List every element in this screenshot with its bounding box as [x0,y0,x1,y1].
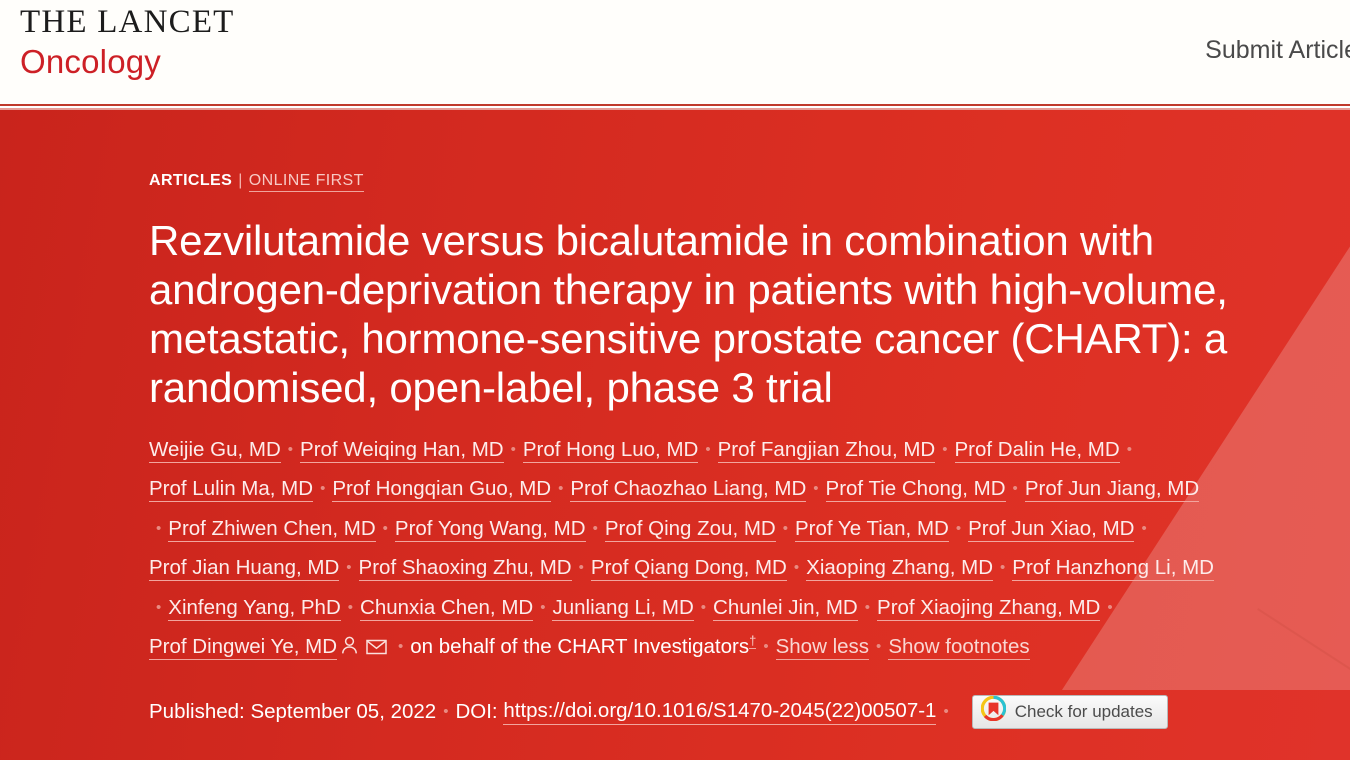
author-link[interactable]: Prof Jun Xiao, MD [968,517,1134,542]
submit-article-link[interactable]: Submit Article [1205,36,1350,65]
author-link[interactable]: Prof Zhiwen Chen, MD [168,517,375,542]
author-separator: • [346,554,351,583]
kicker-online-first-label[interactable]: ONLINE FIRST [249,172,364,192]
show-footnotes-link[interactable]: Show footnotes [888,635,1029,660]
author-separator: • [579,554,584,583]
author-link[interactable]: Prof Dalin He, MD [955,438,1120,463]
author-separator: • [1013,475,1018,504]
author-link[interactable]: Prof Shaoxing Zhu, MD [359,556,572,581]
corresponding-author-link[interactable]: Prof Dingwei Ye, MD [149,635,337,660]
footnote-marker[interactable]: † [749,633,756,649]
crossmark-label: Check for updates [1015,702,1153,722]
article-hero-banner: 218 ongoing at interim progression-free … [0,110,1350,760]
author-profile-icon[interactable] [341,629,358,669]
author-link[interactable]: Chunlei Jin, MD [713,596,858,621]
article-title: Rezvilutamide versus bicalutamide in com… [149,216,1249,413]
author-link[interactable]: Prof Fangjian Zhou, MD [718,438,936,463]
author-link[interactable]: Prof Hongqian Guo, MD [332,477,551,502]
email-author-icon[interactable] [366,629,387,669]
author-link[interactable]: Prof Jun Jiang, MD [1025,477,1199,502]
author-link[interactable]: Prof Qing Zou, MD [605,517,776,542]
author-separator: • [783,515,788,544]
author-list: Weijie Gu, MD•Prof Weiqing Han, MD•Prof … [149,430,1214,669]
group-credit-text: on behalf of the CHART Investigators [410,635,749,658]
author-separator: • [1107,594,1112,623]
author-separator: • [794,554,799,583]
logo-the-lancet: THE LANCET [20,6,235,39]
kicker-section-label[interactable]: ARTICLES [149,172,232,189]
site-masthead: THE LANCET Oncology Submit Article [0,0,1350,104]
author-separator: • [942,436,947,465]
author-separator: • [540,594,545,623]
author-separator: • [511,436,516,465]
author-link[interactable]: Prof Tie Chong, MD [826,477,1006,502]
article-kicker: ARTICLES|ONLINE FIRST [149,172,1259,190]
logo-oncology: Oncology [20,45,235,78]
author-link[interactable]: Prof Chaozhao Liang, MD [570,477,806,502]
author-separator: • [701,594,706,623]
crossmark-check-for-updates-button[interactable]: Check for updates [972,695,1168,729]
author-link[interactable]: Prof Xiaojing Zhang, MD [877,596,1100,621]
lancet-oncology-logo[interactable]: THE LANCET Oncology [20,6,235,78]
published-date: September 05, 2022 [250,700,436,724]
show-less-link[interactable]: Show less [776,635,869,660]
author-separator: • [156,515,161,544]
doi-link[interactable]: https://doi.org/10.1016/S1470-2045(22)00… [503,699,936,725]
meta-separator: • [443,703,448,720]
author-separator: • [593,515,598,544]
publication-meta-line: Published: September 05, 2022•DOI: https… [149,695,1259,729]
author-separator: • [1000,554,1005,583]
published-label: Published: [149,700,245,724]
author-separator: • [876,633,881,662]
author-link[interactable]: Xiaoping Zhang, MD [806,556,993,581]
author-separator: • [865,594,870,623]
article-header-content: ARTICLES|ONLINE FIRST Rezvilutamide vers… [149,172,1259,729]
kicker-separator: | [238,172,243,189]
author-separator: • [348,594,353,623]
author-link[interactable]: Prof Jian Huang, MD [149,556,339,581]
author-link[interactable]: Prof Qiang Dong, MD [591,556,787,581]
author-separator: • [320,475,325,504]
author-link[interactable]: Prof Lulin Ma, MD [149,477,313,502]
author-link[interactable]: Prof Ye Tian, MD [795,517,949,542]
author-link[interactable]: Xinfeng Yang, PhD [168,596,340,621]
author-separator: • [1127,436,1132,465]
author-link[interactable]: Prof Hong Luo, MD [523,438,698,463]
author-separator: • [813,475,818,504]
author-link[interactable]: Prof Weiqing Han, MD [300,438,504,463]
meta-separator: • [943,703,948,720]
author-separator: • [956,515,961,544]
article-hero-page: THE LANCET Oncology Submit Article [0,0,1350,760]
author-link[interactable]: Prof Yong Wang, MD [395,517,586,542]
author-link[interactable]: Weijie Gu, MD [149,438,281,463]
author-separator: • [763,633,768,662]
author-link[interactable]: Chunxia Chen, MD [360,596,533,621]
author-separator: • [398,633,403,662]
author-link[interactable]: Prof Hanzhong Li, MD [1012,556,1214,581]
author-separator: • [1141,515,1146,544]
crossmark-logo-icon [981,696,1006,727]
author-link[interactable]: Junliang Li, MD [552,596,693,621]
author-separator: • [705,436,710,465]
author-separator: • [156,594,161,623]
doi-label: DOI: [455,700,497,724]
author-separator: • [288,436,293,465]
author-separator: • [558,475,563,504]
author-separator: • [383,515,388,544]
